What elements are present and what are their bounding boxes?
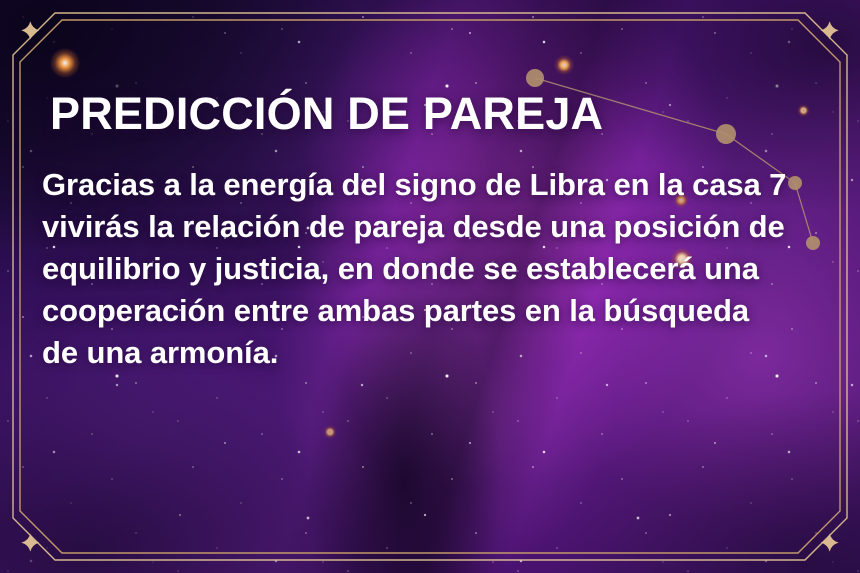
text-content-block: PREDICCIÓN DE PAREJA Gracias a la energí… — [42, 88, 832, 374]
glowing-star — [50, 48, 80, 78]
prediction-body-text: Gracias a la energía del signo de Libra … — [42, 140, 832, 374]
body-line: Gracias a la energía del signo de Libra … — [42, 164, 832, 206]
constellation-node — [526, 69, 544, 87]
corner-sparkle-icon — [21, 21, 39, 39]
corner-sparkle-icon — [821, 534, 839, 552]
page-title: PREDICCIÓN DE PAREJA — [42, 88, 832, 140]
corner-sparkle-icon — [21, 534, 39, 552]
body-line: vivirás la relación de pareja desde una … — [42, 206, 832, 248]
glowing-star — [554, 55, 574, 75]
body-line: de una armonía. — [42, 332, 832, 374]
prediction-card: PREDICCIÓN DE PAREJA Gracias a la energí… — [0, 0, 860, 573]
corner-sparkle-icon — [821, 21, 839, 39]
glowing-star — [323, 425, 337, 439]
body-line: equilibrio y justicia, en donde se estab… — [42, 248, 832, 290]
body-line: cooperación entre ambas partes en la bús… — [42, 290, 832, 332]
